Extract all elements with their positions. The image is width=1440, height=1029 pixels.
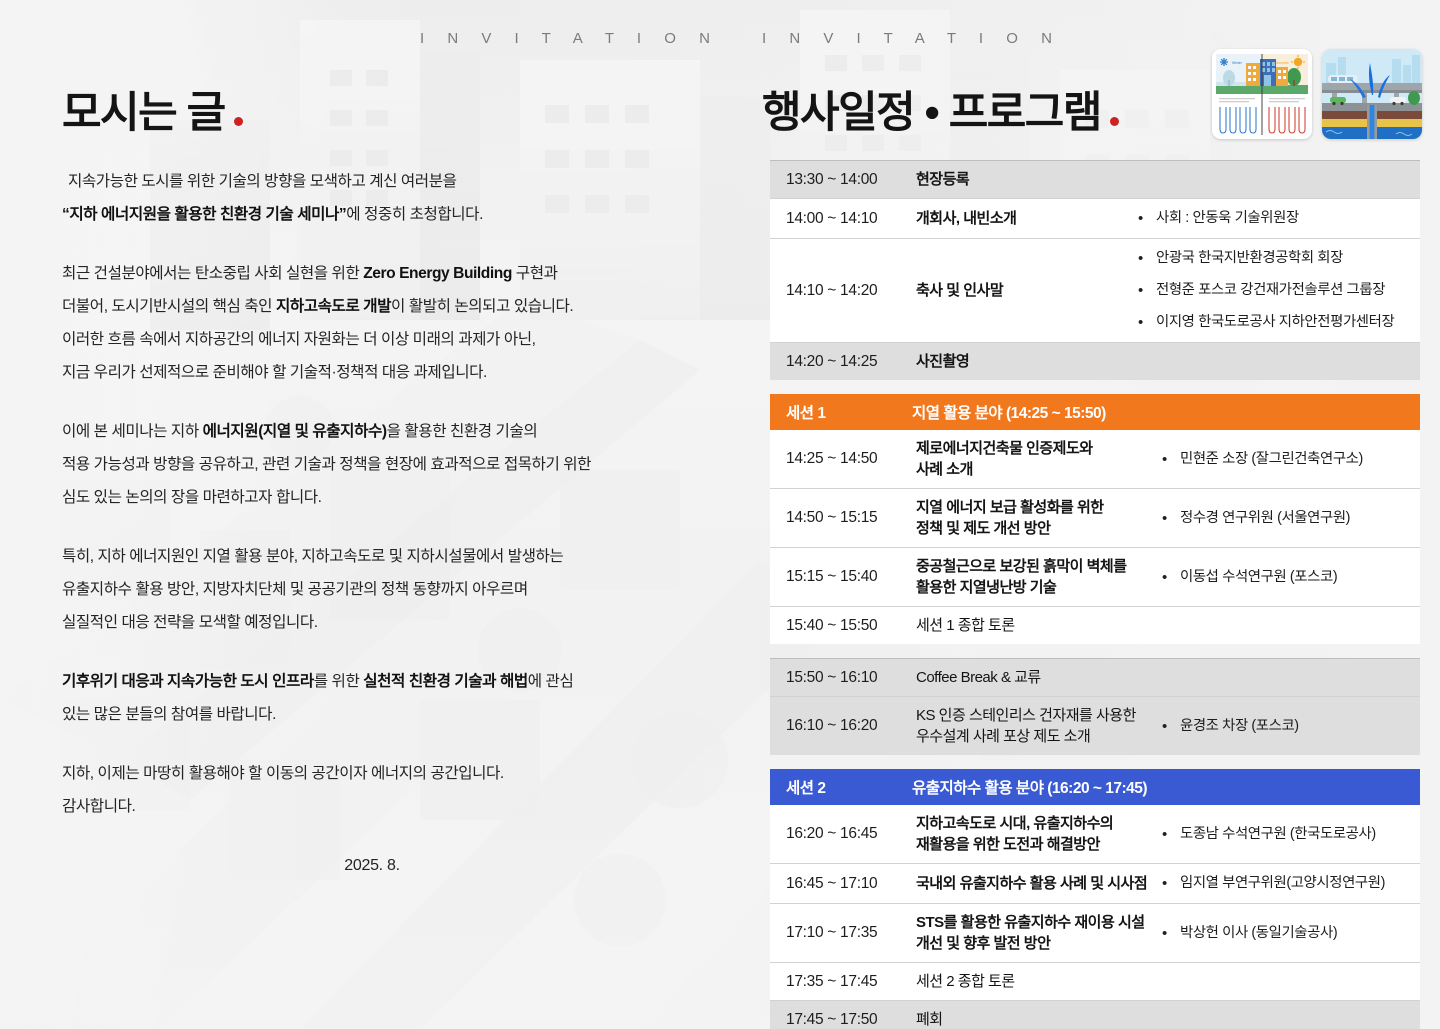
eyebrow-invitation-right: I N V I T A T I O N: [762, 30, 1061, 47]
schedule-row: 16:45 ~ 17:10국내외 유출지하수 활용 사례 및 시사점•임지열 부…: [770, 864, 1420, 904]
invitation-letter-body: 지속가능한 도시를 위한 기술의 방향을 모색하고 계신 여러분을“지하 에너지…: [62, 165, 682, 823]
schedule-row-title: KS 인증 스테인리스 건자재를 사용한우수설계 사례 포상 제도 소개: [912, 697, 1158, 755]
schedule-row-speakers: •사회 : 안동욱 기술위원장: [1134, 199, 1420, 238]
speaker-name: 전형준 포스코 강건재가전솔루션 그룹장: [1156, 279, 1410, 302]
session-banner: 세션 1지열 활용 분야 (14:25 ~ 15:50): [770, 394, 1420, 430]
session-label: 세션 2: [770, 776, 912, 798]
speaker-name: 민현준 소장 (잘그린건축연구소): [1180, 448, 1410, 471]
speaker-item: •윤경조 차장 (포스코): [1158, 715, 1410, 738]
speaker-item: •임지열 부연구위원(고양시정연구원): [1158, 872, 1410, 895]
bullet-dot-icon: •: [1158, 715, 1180, 738]
speaker-item: •민현준 소장 (잘그린건축연구소): [1158, 448, 1410, 471]
schedule-row-time: 14:00 ~ 14:10: [770, 199, 912, 238]
speaker-name: 윤경조 차장 (포스코): [1180, 715, 1410, 738]
letter-line: 특히, 지하 에너지원인 지열 활용 분야, 지하고속도로 및 지하시설물에서 …: [62, 540, 682, 573]
speaker-name: 이동섭 수석연구원 (포스코): [1180, 566, 1410, 589]
schedule-row-title: 세션 1 종합 토론: [912, 607, 1158, 644]
bullet-dot-icon: •: [1158, 922, 1180, 945]
schedule-row: 14:25 ~ 14:50제로에너지건축물 인증제도와사례 소개•민현준 소장 …: [770, 430, 1420, 489]
right-heading-text: 행사일정 • 프로그램: [762, 89, 1101, 137]
speaker-item: •이동섭 수석연구원 (포스코): [1158, 566, 1410, 589]
schedule-row-speakers: •정수경 연구위원 (서울연구원): [1158, 489, 1420, 547]
schedule-row-speakers: [1134, 343, 1420, 380]
bullet-dot-icon: •: [1134, 247, 1156, 270]
letter-paragraph: 기후위기 대응과 지속가능한 도시 인프라를 위한 실천적 친환경 기술과 해법…: [62, 665, 682, 731]
speaker-name: 사회 : 안동욱 기술위원장: [1156, 207, 1410, 230]
red-dot-icon: [1110, 117, 1119, 126]
schedule-row-speakers: •박상헌 이사 (동일기술공사): [1158, 904, 1420, 962]
bullet-dot-icon: •: [1134, 207, 1156, 230]
letter-line: 적용 가능성과 방향을 공유하고, 관련 기술과 정책을 현장에 효과적으로 접…: [62, 448, 682, 481]
schedule-row-title: 제로에너지건축물 인증제도와사례 소개: [912, 430, 1158, 488]
invitation-date: 2025. 8.: [62, 857, 682, 875]
schedule-row: 15:50 ~ 16:10Coffee Break & 교류: [770, 659, 1420, 697]
speaker-item: •박상헌 이사 (동일기술공사): [1158, 922, 1410, 945]
schedule-row-title: 폐회: [912, 1001, 1158, 1029]
schedule-row-title: 축사 및 인사말: [912, 239, 1134, 342]
schedule-block-interlude: 15:50 ~ 16:10Coffee Break & 교류16:10 ~ 16…: [770, 658, 1420, 755]
schedule-row-title: 지하고속도로 시대, 유출지하수의재활용을 위한 도전과 해결방안: [912, 805, 1158, 863]
bullet-dot-icon: •: [1134, 279, 1156, 302]
schedule-row-time: 14:10 ~ 14:20: [770, 239, 912, 342]
schedule-row-speakers: [1158, 659, 1420, 696]
letter-paragraph: 특히, 지하 에너지원인 지열 활용 분야, 지하고속도로 및 지하시설물에서 …: [62, 540, 682, 639]
letter-line: 기후위기 대응과 지속가능한 도시 인프라를 위한 실천적 친환경 기술과 해법…: [62, 665, 682, 698]
schedule-block-session1: 세션 1지열 활용 분야 (14:25 ~ 15:50)14:25 ~ 14:5…: [770, 394, 1420, 644]
bullet-dot-icon: •: [1134, 311, 1156, 334]
letter-line: 심도 있는 논의의 장을 마련하고자 합니다.: [62, 481, 682, 514]
session-title: 지열 활용 분야 (14:25 ~ 15:50): [912, 401, 1420, 423]
schedule-row-speakers: •안광국 한국지반환경공학회 회장•전형준 포스코 강건재가전솔루션 그룹장•이…: [1134, 239, 1420, 342]
event-schedule-table: 13:30 ~ 14:00현장등록14:00 ~ 14:10개회사, 내빈소개•…: [770, 160, 1420, 1029]
letter-paragraph: 이에 본 세미나는 지하 에너지원(지열 및 유출지하수)을 활용한 친환경 기…: [62, 415, 682, 514]
schedule-row: 16:10 ~ 16:20KS 인증 스테인리스 건자재를 사용한우수설계 사례…: [770, 697, 1420, 755]
speaker-item: •정수경 연구위원 (서울연구원): [1158, 507, 1410, 530]
schedule-row-title: STS를 활용한 유출지하수 재이용 시설개선 및 향후 발전 방안: [912, 904, 1158, 962]
schedule-row: 17:35 ~ 17:45세션 2 종합 토론: [770, 963, 1420, 1001]
letter-paragraph: 지하, 이제는 마땅히 활용해야 할 이동의 공간이자 에너지의 공간입니다.감…: [62, 757, 682, 823]
svg-text:Winter: Winter: [1232, 61, 1243, 65]
schedule-row: 17:10 ~ 17:35STS를 활용한 유출지하수 재이용 시설개선 및 향…: [770, 904, 1420, 963]
schedule-row-title: 국내외 유출지하수 활용 사례 및 시사점: [912, 864, 1158, 903]
schedule-row: 13:30 ~ 14:00현장등록: [770, 161, 1420, 199]
schedule-row: 14:00 ~ 14:10개회사, 내빈소개•사회 : 안동욱 기술위원장: [770, 199, 1420, 239]
schedule-row-speakers: [1134, 161, 1420, 198]
letter-line: 지하, 이제는 마땅히 활용해야 할 이동의 공간이자 에너지의 공간입니다.: [62, 757, 682, 790]
letter-line: 유출지하수 활용 방안, 지방자치단체 및 공공기관의 정책 동향까지 아우르며: [62, 573, 682, 606]
schedule-row-speakers: •임지열 부연구위원(고양시정연구원): [1158, 864, 1420, 903]
schedule-row: 15:40 ~ 15:50세션 1 종합 토론: [770, 607, 1420, 644]
schedule-row-title: 세션 2 종합 토론: [912, 963, 1158, 1000]
schedule-row-time: 13:30 ~ 14:00: [770, 161, 912, 198]
speaker-item: •전형준 포스코 강건재가전솔루션 그룹장: [1134, 279, 1410, 302]
letter-paragraph: 지속가능한 도시를 위한 기술의 방향을 모색하고 계신 여러분을“지하 에너지…: [62, 165, 682, 231]
letter-line: “지하 에너지원을 활용한 친환경 기술 세미나”에 정중히 초청합니다.: [62, 198, 682, 231]
schedule-row-time: 17:35 ~ 17:45: [770, 963, 912, 1000]
speaker-item: •이지영 한국도로공사 지하안전평가센터장: [1134, 311, 1410, 334]
schedule-row-time: 14:20 ~ 14:25: [770, 343, 912, 380]
speaker-name: 이지영 한국도로공사 지하안전평가센터장: [1156, 311, 1410, 334]
letter-line: 지속가능한 도시를 위한 기술의 방향을 모색하고 계신 여러분을: [62, 165, 682, 198]
schedule-row-time: 14:25 ~ 14:50: [770, 430, 912, 488]
bullet-dot-icon: •: [1158, 872, 1180, 895]
speaker-name: 안광국 한국지반환경공학회 회장: [1156, 247, 1410, 270]
schedule-row-time: 16:10 ~ 16:20: [770, 697, 912, 755]
bullet-dot-icon: •: [1158, 448, 1180, 471]
session-label: 세션 1: [770, 401, 912, 423]
schedule-block-session2: 세션 2유출지하수 활용 분야 (16:20 ~ 17:45)16:20 ~ 1…: [770, 769, 1420, 1029]
speaker-name: 임지열 부연구위원(고양시정연구원): [1180, 872, 1410, 895]
schedule-row-title: 지열 에너지 보급 활성화를 위한정책 및 제도 개선 방안: [912, 489, 1158, 547]
left-panel-heading: 모시는 글: [62, 92, 243, 135]
schedule-row-time: 15:50 ~ 16:10: [770, 659, 912, 696]
left-heading-text: 모시는 글: [62, 89, 225, 137]
letter-line: 이러한 흐름 속에서 지하공간의 에너지 자원화는 더 이상 미래의 과제가 아…: [62, 323, 682, 356]
schedule-row-time: 17:10 ~ 17:35: [770, 904, 912, 962]
schedule-row-title: 현장등록: [912, 161, 1134, 198]
schedule-row: 14:10 ~ 14:20축사 및 인사말•안광국 한국지반환경공학회 회장•전…: [770, 239, 1420, 343]
speaker-name: 박상헌 이사 (동일기술공사): [1180, 922, 1410, 945]
schedule-row-time: 16:45 ~ 17:10: [770, 864, 912, 903]
schedule-row-title: Coffee Break & 교류: [912, 659, 1158, 696]
schedule-row-time: 15:40 ~ 15:50: [770, 607, 912, 644]
letter-line: 있는 많은 분들의 참여를 바랍니다.: [62, 698, 682, 731]
bullet-dot-icon: •: [1158, 823, 1180, 846]
letter-paragraph: 최근 건설분야에서는 탄소중립 사회 실현을 위한 Zero Energy Bu…: [62, 257, 682, 389]
speaker-item: •도종남 수석연구원 (한국도로공사): [1158, 823, 1410, 846]
schedule-row: 15:15 ~ 15:40중공철근으로 보강된 흙막이 벽체를활용한 지열냉난방…: [770, 548, 1420, 607]
speaker-name: 도종남 수석연구원 (한국도로공사): [1180, 823, 1410, 846]
svg-text:Summer: Summer: [1276, 61, 1290, 65]
red-dot-icon: [234, 117, 243, 126]
session-banner: 세션 2유출지하수 활용 분야 (16:20 ~ 17:45): [770, 769, 1420, 805]
speaker-item: •사회 : 안동욱 기술위원장: [1134, 207, 1410, 230]
letter-line: 더불어, 도시기반시설의 핵심 축인 지하고속도로 개발이 활발히 논의되고 있…: [62, 290, 682, 323]
schedule-block-opening: 13:30 ~ 14:00현장등록14:00 ~ 14:10개회사, 내빈소개•…: [770, 160, 1420, 380]
schedule-row-title: 사진촬영: [912, 343, 1134, 380]
letter-line: 실질적인 대응 전략을 모색할 예정입니다.: [62, 606, 682, 639]
schedule-row-time: 17:45 ~ 17:50: [770, 1001, 912, 1029]
speaker-name: 정수경 연구위원 (서울연구원): [1180, 507, 1410, 530]
schedule-row-title: 중공철근으로 보강된 흙막이 벽체를활용한 지열냉난방 기술: [912, 548, 1158, 606]
bullet-dot-icon: •: [1158, 566, 1180, 589]
schedule-row-speakers: [1158, 607, 1420, 644]
schedule-row-time: 15:15 ~ 15:40: [770, 548, 912, 606]
letter-line: 지금 우리가 선제적으로 준비해야 할 기술적·정책적 대응 과제입니다.: [62, 356, 682, 389]
schedule-row-time: 14:50 ~ 15:15: [770, 489, 912, 547]
eyebrow-invitation-left: I N V I T A T I O N: [420, 30, 719, 47]
schedule-row-speakers: •윤경조 차장 (포스코): [1158, 697, 1420, 755]
schedule-row-speakers: •민현준 소장 (잘그린건축연구소): [1158, 430, 1420, 488]
bullet-dot-icon: •: [1158, 507, 1180, 530]
schedule-row: 14:50 ~ 15:15지열 에너지 보급 활성화를 위한정책 및 제도 개선…: [770, 489, 1420, 548]
speaker-item: •안광국 한국지반환경공학회 회장: [1134, 247, 1410, 270]
schedule-row-speakers: •이동섭 수석연구원 (포스코): [1158, 548, 1420, 606]
schedule-row-speakers: •도종남 수석연구원 (한국도로공사): [1158, 805, 1420, 863]
schedule-row-time: 16:20 ~ 16:45: [770, 805, 912, 863]
groundwater-highway-logo: [1322, 49, 1422, 139]
geothermal-building-logo: Winter Summer: [1212, 49, 1312, 139]
schedule-row-speakers: [1158, 1001, 1420, 1029]
session-title: 유출지하수 활용 분야 (16:20 ~ 17:45): [912, 776, 1420, 798]
right-panel-heading: 행사일정 • 프로그램: [762, 92, 1119, 135]
schedule-row-speakers: [1158, 963, 1420, 1000]
partner-logos: Winter Summer: [1212, 49, 1422, 139]
letter-line: 최근 건설분야에서는 탄소중립 사회 실현을 위한 Zero Energy Bu…: [62, 257, 682, 290]
schedule-row-title: 개회사, 내빈소개: [912, 199, 1134, 238]
schedule-row: 16:20 ~ 16:45지하고속도로 시대, 유출지하수의재활용을 위한 도전…: [770, 805, 1420, 864]
letter-line: 감사합니다.: [62, 790, 682, 823]
schedule-row: 14:20 ~ 14:25사진촬영: [770, 343, 1420, 380]
schedule-row: 17:45 ~ 17:50폐회: [770, 1001, 1420, 1029]
letter-line: 이에 본 세미나는 지하 에너지원(지열 및 유출지하수)을 활용한 친환경 기…: [62, 415, 682, 448]
